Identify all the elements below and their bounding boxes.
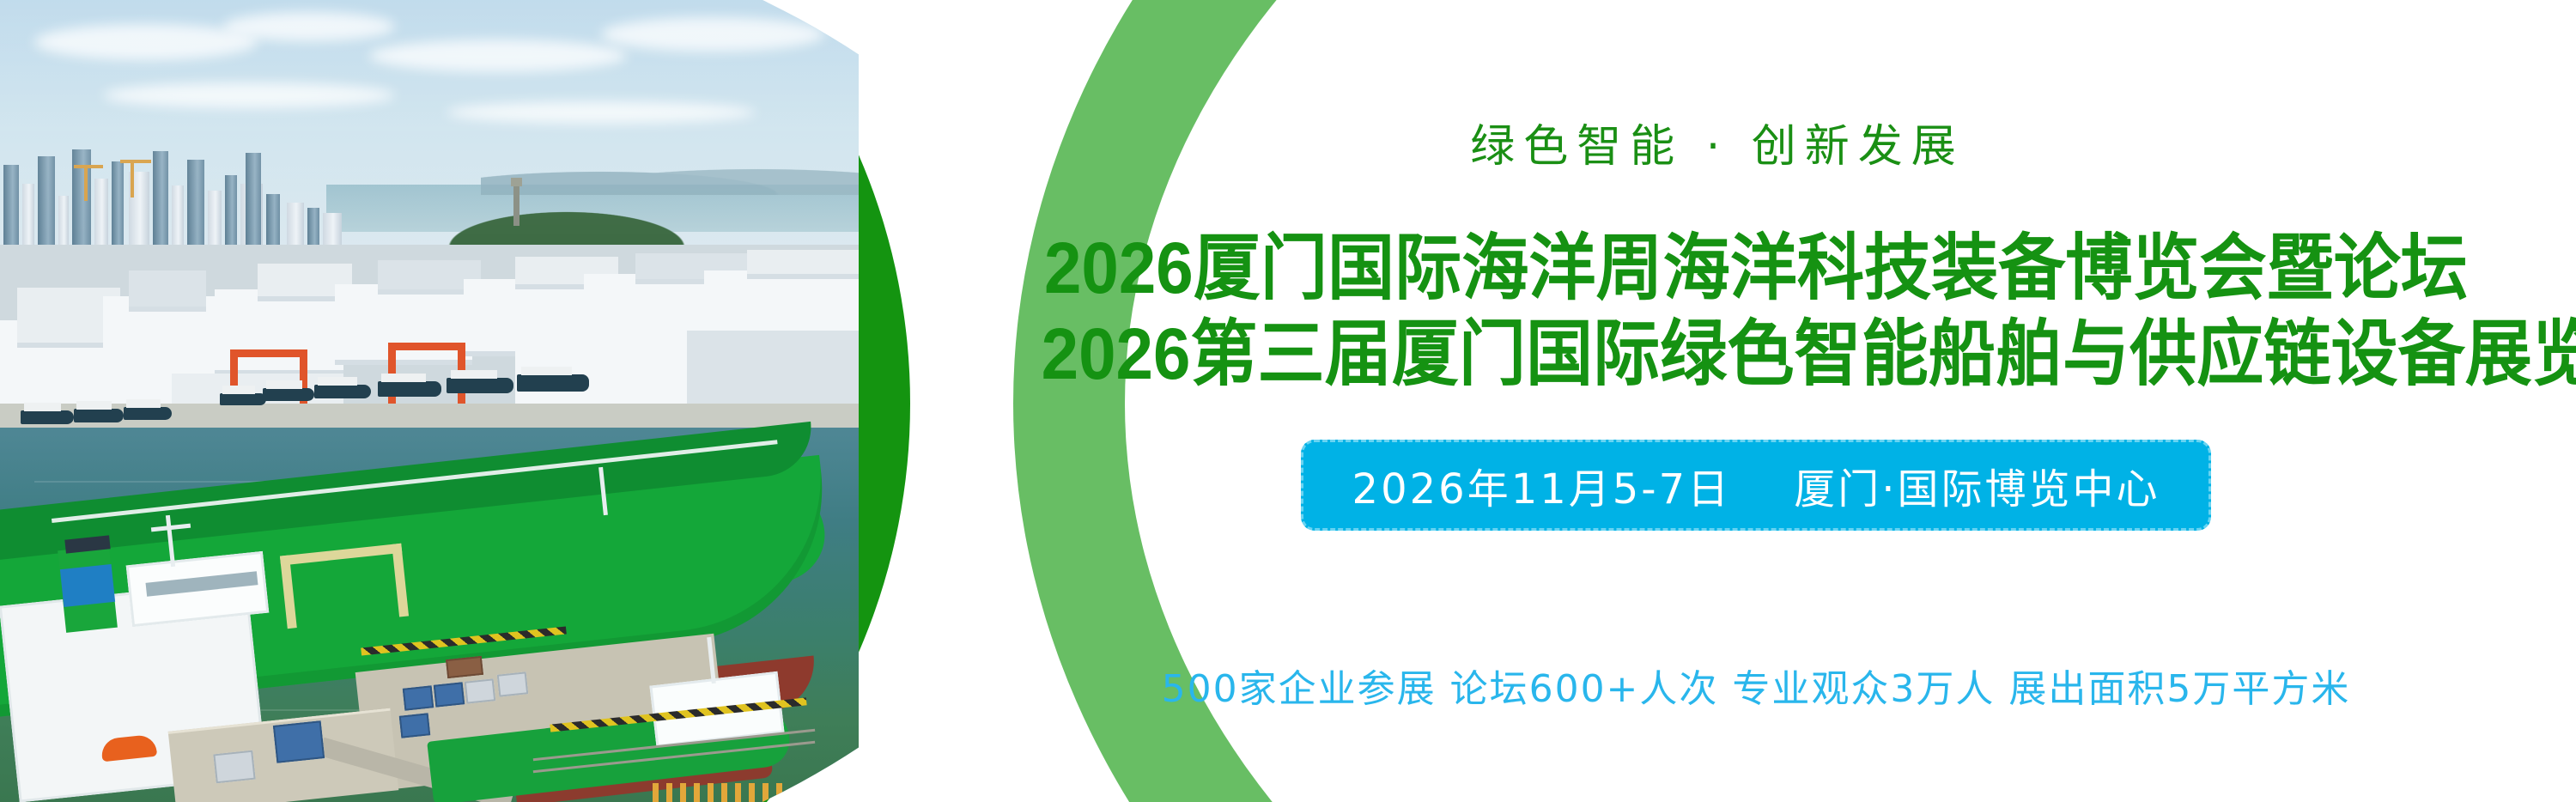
date-venue-badge: 2026年11月5-7日 厦门·国际博览中心	[1301, 440, 2211, 531]
event-banner: 绿色智能 · 创新发展 2026厦门国际海洋周海洋科技装备博览会暨论坛 2026…	[0, 0, 2576, 802]
event-stats: 500家企业参展 论坛600+人次 专业观众3万人 展出面积5万平方米	[987, 658, 2524, 713]
title-block: 2026厦门国际海洋周海洋科技装备博览会暨论坛 2026第三届厦门国际绿色智能船…	[987, 225, 2524, 397]
event-title-line-2: 2026第三届厦门国际绿色智能船舶与供应链设备展览会	[1042, 311, 2471, 397]
date-venue-badge-row: 2026年11月5-7日 厦门·国际博览中心	[987, 440, 2524, 531]
photo-haze-overlay	[0, 0, 859, 802]
banner-content: 绿色智能 · 创新发展 2026厦门国际海洋周海洋科技装备博览会暨论坛 2026…	[987, 0, 2576, 802]
event-title-line-1: 2026厦门国际海洋周海洋科技装备博览会暨论坛	[1042, 225, 2471, 311]
harbor-photo-canvas	[0, 0, 859, 802]
tagline: 绿色智能 · 创新发展	[987, 110, 2447, 174]
harbor-photo	[0, 0, 859, 802]
